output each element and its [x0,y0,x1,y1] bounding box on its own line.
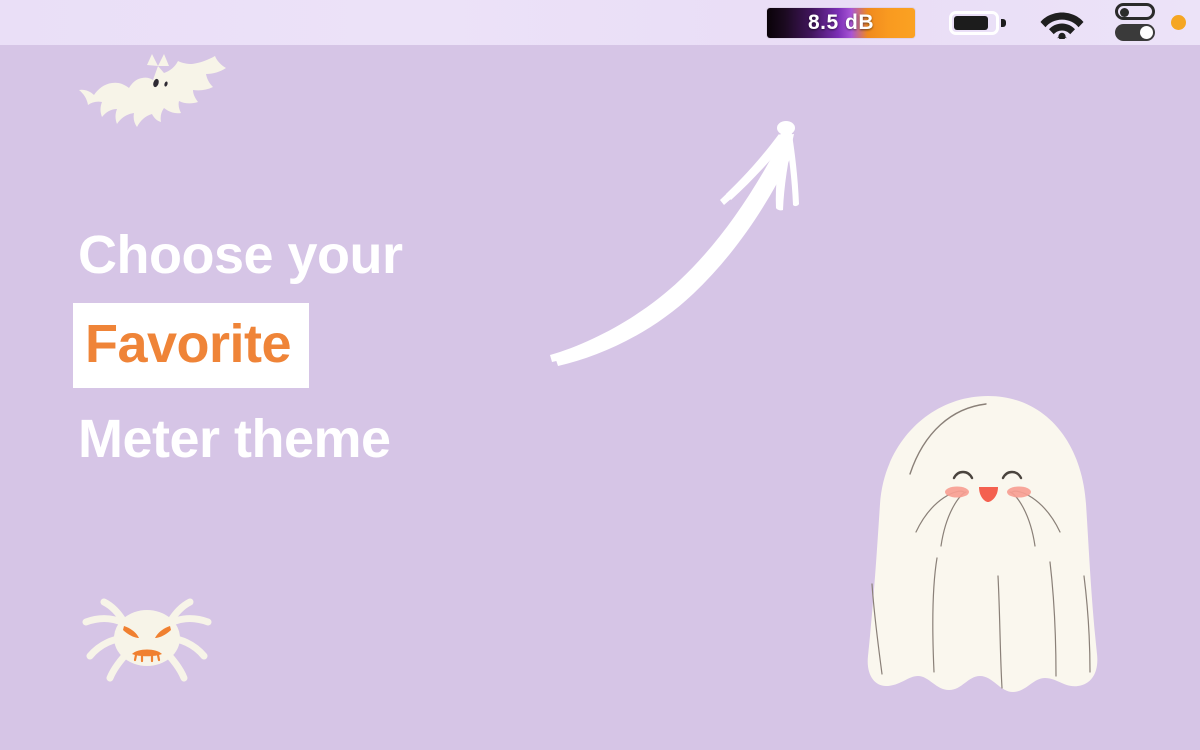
db-meter[interactable]: 8.5 dB [767,8,915,38]
headline-highlight-box: Favorite [73,303,309,388]
battery-icon[interactable] [949,8,1007,38]
wifi-icon[interactable] [1039,7,1085,39]
db-meter-value: 8.5 dB [808,11,874,35]
battery-fill [954,16,988,30]
status-dot [1171,15,1186,30]
headline-line-1: Choose your [78,228,403,282]
battery-cap [1001,19,1006,27]
headline-highlight-text: Favorite [85,317,291,371]
curved-arrow-icon [534,104,824,379]
screen-root: 8.5 dB [0,0,1200,750]
toggle-bottom[interactable] [1115,24,1155,41]
bat-icon [74,52,239,149]
status-bar: 8.5 dB [0,0,1200,45]
spider-icon [72,578,222,693]
toggle-bottom-knob [1140,26,1153,39]
toggle-top[interactable] [1115,3,1155,20]
toggle-top-knob [1120,8,1129,17]
headline-line-3: Meter theme [78,412,403,466]
ghost-illustration [846,388,1131,713]
headline-block: Choose your Favorite Meter theme [78,228,403,466]
toggle-group [1115,3,1157,43]
